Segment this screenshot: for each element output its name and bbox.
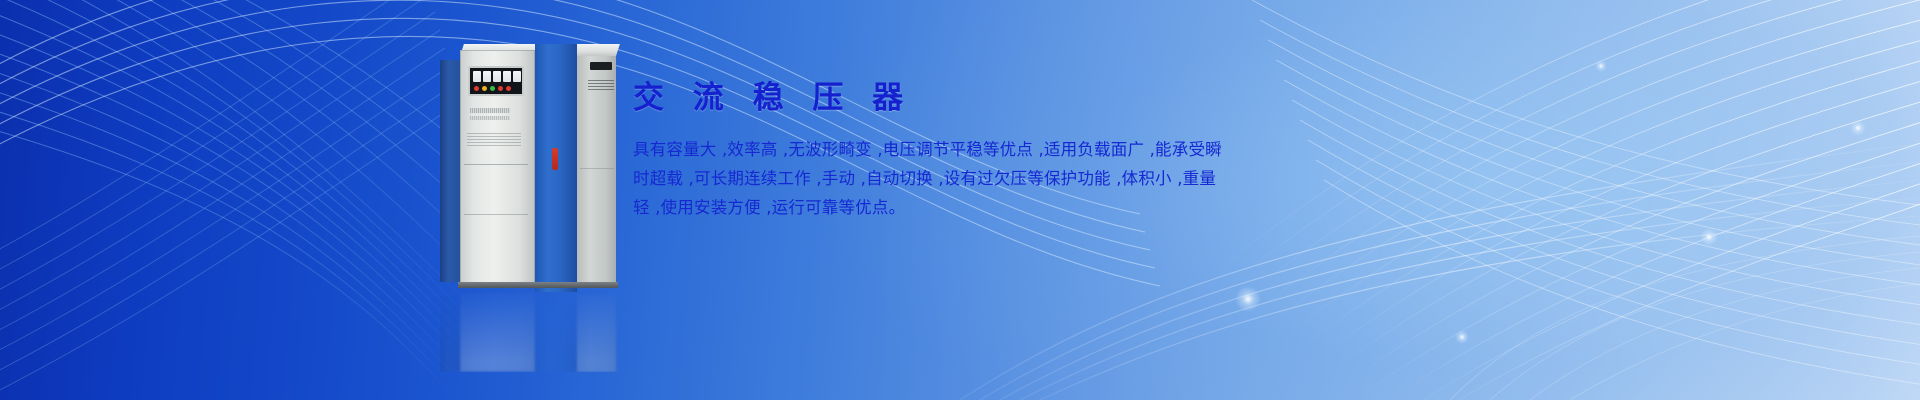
indicator-lamp-row xyxy=(474,86,511,91)
lamp-red-4 xyxy=(498,86,503,91)
door-handle xyxy=(552,148,558,170)
meter-panel xyxy=(468,66,524,96)
panel-seam xyxy=(580,168,614,169)
lamp-amber-2 xyxy=(482,86,487,91)
product-banner: 交 流 稳 压 器 具有容量大 ,效率高 ,无波形畸变 ,电压调节平稳等优点 ,… xyxy=(0,0,1920,400)
lamp-red-5 xyxy=(506,86,511,91)
panel-seam xyxy=(464,164,528,165)
meter-gauge xyxy=(473,71,481,82)
product-description: 具有容量大 ,效率高 ,无波形畸变 ,电压调节平稳等优点 ,适用负载面广 ,能承… xyxy=(633,135,1151,222)
product-image-voltage-stabilizer xyxy=(440,38,625,286)
meter-gauge xyxy=(493,71,501,82)
ventilation-grille xyxy=(467,133,521,147)
meter-gauge xyxy=(513,71,521,82)
description-line: 轻 ,使用安装方便 ,运行可靠等优点。 xyxy=(633,193,1151,222)
description-line: 具有容量大 ,效率高 ,无波形畸变 ,电压调节平稳等优点 ,适用负载面广 ,能承… xyxy=(633,135,1151,164)
model-label xyxy=(588,80,614,90)
cabinet-right-panel xyxy=(576,56,616,288)
meter-gauge xyxy=(503,71,511,82)
panel-seam xyxy=(464,214,528,215)
nameplate-lower xyxy=(470,116,510,120)
lamp-red-1 xyxy=(474,86,479,91)
cabinet-left-panel xyxy=(440,60,462,282)
page-title: 交 流 稳 压 器 xyxy=(633,78,1163,118)
description-line: 时超载 ,可长期连续工作 ,手动 ,自动切换 ,设有过欠压等保护功能 ,体积小 … xyxy=(633,164,1151,193)
nameplate-upper xyxy=(470,108,510,113)
meter-gauge-row xyxy=(473,71,521,82)
brand-badge xyxy=(590,62,612,70)
cabinet-base xyxy=(458,282,618,288)
meter-gauge xyxy=(483,71,491,82)
banner-copy-block: 交 流 稳 压 器 具有容量大 ,效率高 ,无波形畸变 ,电压调节平稳等优点 ,… xyxy=(633,78,1163,222)
lamp-green-3 xyxy=(490,86,495,91)
